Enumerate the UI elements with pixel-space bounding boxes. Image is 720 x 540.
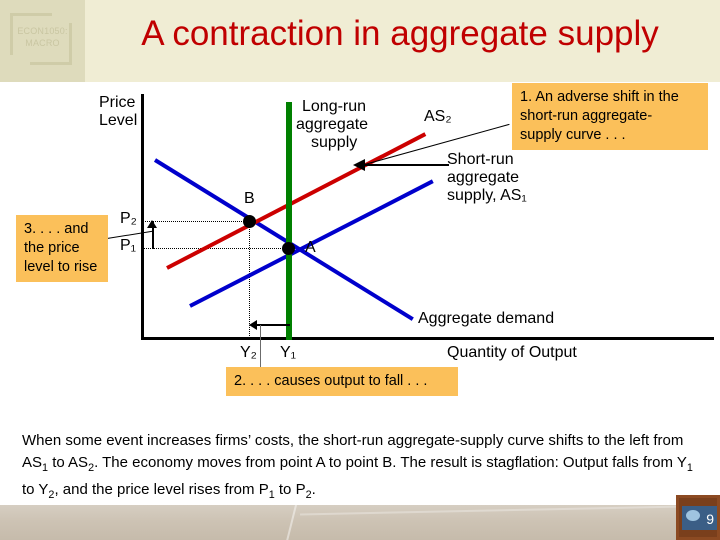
aggregate-demand-curve [154, 158, 414, 321]
course-logo: ECON1050: MACRO [0, 0, 85, 82]
callout-1-arrow-shaft [365, 164, 449, 166]
header-band: ECON1050: MACRO A contraction in aggrega… [0, 0, 720, 82]
caption-part-7: . [312, 481, 316, 498]
slide-number-inner-panel: 9 [682, 506, 718, 530]
output-fall-arrow-head [249, 320, 257, 330]
price-tick-p1: P₁ [120, 237, 136, 254]
callout-3: 3. . . . and the price level to rise [16, 215, 108, 282]
price-rise-arrow-head [147, 220, 157, 228]
short-run-aggregate-supply-label-line1: Short-run [447, 151, 514, 168]
logo-course-name: MACRO [0, 38, 85, 48]
callout-2: 2. . . . causes output to fall . . . [226, 367, 458, 396]
slide-number-text: 9 [706, 511, 714, 527]
aggregate-demand-label: Aggregate demand [418, 310, 554, 327]
price-tick-p2: P₂ [120, 210, 137, 227]
long-run-aggregate-supply-label-line3: supply [311, 134, 357, 151]
short-run-aggregate-supply-label-line2: aggregate [447, 169, 519, 186]
slide-title: A contraction in aggregate supply [85, 14, 715, 54]
quantity-of-output-axis [141, 337, 714, 340]
caption-part-4: to Y [22, 481, 48, 498]
y-axis-label-line1: Price [99, 94, 135, 111]
point-b-dot [243, 215, 256, 228]
caption-part-3: . The economy moves from point A to poin… [94, 454, 687, 471]
point-a-dot [282, 242, 295, 255]
strip-seam-horizontal [300, 505, 720, 516]
point-a-label: A [305, 239, 316, 256]
p2-guide-line [143, 221, 250, 222]
slide-number-badge: 9 [676, 495, 720, 540]
logo-frame-notch-bottom-left [10, 55, 30, 65]
callout-1-line1: 1. An adverse shift in the [520, 88, 700, 107]
strip-seam-diagonal [284, 505, 298, 540]
point-b-label: B [244, 190, 255, 207]
long-run-aggregate-supply-label-line2: aggregate [296, 116, 368, 133]
caption-part-2: to AS [48, 454, 88, 471]
footer-photo-strip [0, 505, 720, 540]
long-run-aggregate-supply-curve [286, 102, 292, 340]
callout-2-leader-line [260, 325, 261, 371]
callout-3-line2: the price [24, 239, 100, 258]
x-axis-label: Quantity of Output [447, 344, 577, 361]
as2-label: AS₂ [424, 108, 452, 125]
callout-1: 1. An adverse shift in the short-run agg… [512, 83, 708, 150]
callout-1-line2: short-run aggregate- [520, 107, 700, 126]
logo-course-code: ECON1050: [0, 26, 85, 36]
callout-1-arrow-head [353, 159, 365, 171]
p1-guide-line [143, 248, 289, 249]
caption-part-5: , and the price level rises from P [54, 481, 268, 498]
callout-3-line3: level to rise [24, 258, 100, 277]
output-tick-y2: Y₂ [240, 344, 257, 361]
slide-number-blob-icon [686, 510, 700, 521]
caption-part-6: to P [275, 481, 306, 498]
callout-1-line3: supply curve . . . [520, 126, 700, 145]
slide-caption: When some event increases firms’ costs, … [22, 430, 700, 507]
callout-3-line1: 3. . . . and [24, 220, 100, 239]
output-fall-arrow-shaft [256, 324, 290, 326]
logo-frame-notch-top-right [52, 13, 72, 23]
caption-sub-3: 1 [687, 462, 693, 474]
long-run-aggregate-supply-label-line1: Long-run [302, 98, 366, 115]
aggregate-supply-demand-diagram: Price Level Quantity of Output B A P₂ P₁… [0, 82, 720, 412]
output-tick-y1: Y₁ [280, 344, 296, 361]
price-level-axis [141, 94, 144, 340]
short-run-aggregate-supply-label-line3: supply, AS₁ [447, 187, 527, 204]
y-axis-label-line2: Level [99, 112, 137, 129]
callout-2-line1: 2. . . . causes output to fall . . . [234, 372, 450, 391]
